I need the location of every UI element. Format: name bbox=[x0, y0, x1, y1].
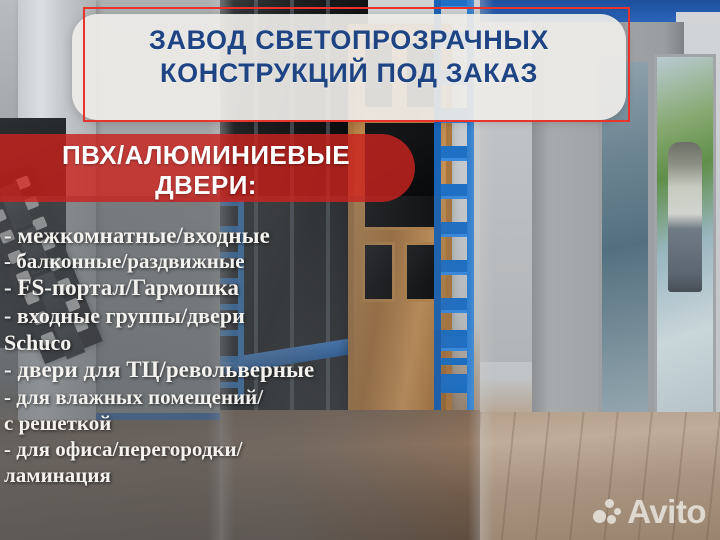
list-item: - FS-портал/Гармошка bbox=[4, 274, 474, 302]
header-line-2: КОНСТРУКЦИЙ ПОД ЗАКАЗ bbox=[72, 57, 626, 90]
category-banner-text: ПВХ/АЛЮМИНИЕВЫЕ ДВЕРИ: bbox=[0, 140, 412, 200]
header-line-1: ЗАВОД СВЕТОПРОЗРАЧНЫХ bbox=[72, 24, 626, 57]
banner-line-1: ПВХ/АЛЮМИНИЕВЫЕ bbox=[0, 140, 412, 170]
list-item: - межкомнатные/входные bbox=[4, 222, 474, 249]
list-item: - для влажных помещений/ с решеткой bbox=[4, 384, 474, 436]
product-list: - межкомнатные/входные - балконные/раздв… bbox=[4, 222, 474, 488]
banner-line-2: ДВЕРИ: bbox=[0, 170, 412, 200]
list-item: - балконные/раздвижные bbox=[4, 249, 474, 274]
list-item: - для офиса/перегородки/ ламинация bbox=[4, 436, 474, 488]
avito-wordmark: Avito bbox=[627, 495, 706, 528]
advertisement-image: ЗАВОД СВЕТОПРОЗРАЧНЫХ КОНСТРУКЦИЙ ПОД ЗА… bbox=[0, 0, 720, 540]
list-item: - входные группы/двери Schuco bbox=[4, 302, 474, 356]
page-title: ЗАВОД СВЕТОПРОЗРАЧНЫХ КОНСТРУКЦИЙ ПОД ЗА… bbox=[72, 24, 626, 90]
list-item: - двери для ТЦ/револьверные bbox=[4, 356, 474, 384]
avito-watermark: Avito bbox=[593, 495, 706, 528]
person-reflection bbox=[668, 142, 702, 292]
avito-logo-icon bbox=[593, 498, 621, 526]
